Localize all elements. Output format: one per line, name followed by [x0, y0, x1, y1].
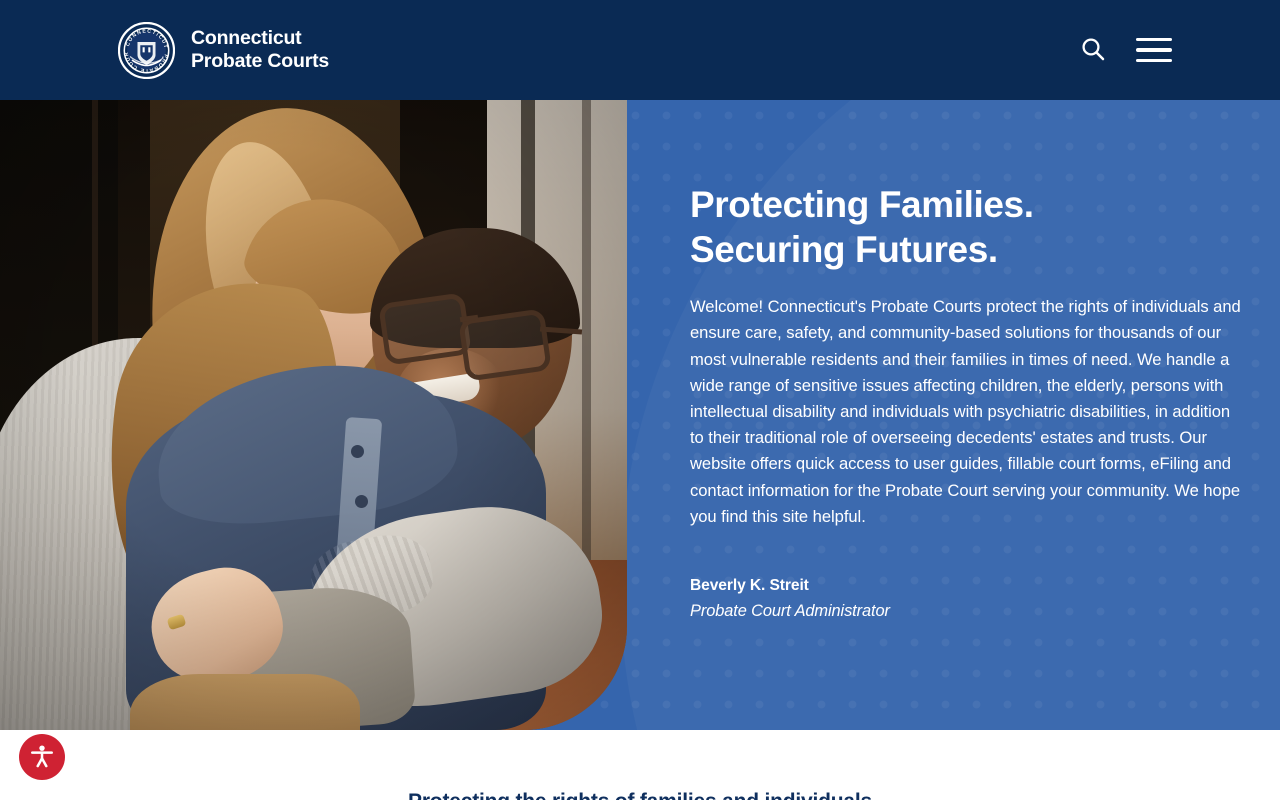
accessibility-person-icon — [28, 742, 56, 773]
signature-name: Beverly K. Streit — [690, 574, 1246, 599]
accessibility-button[interactable] — [19, 734, 65, 780]
signature-role: Probate Court Administrator — [690, 599, 1246, 625]
hamburger-menu-icon — [1136, 38, 1172, 62]
hero-copy: Protecting Families. Securing Futures. W… — [690, 100, 1246, 730]
brand-name: Connecticut Probate Courts — [191, 27, 329, 73]
hero-photo — [0, 100, 627, 730]
header-actions — [1076, 0, 1176, 100]
below-fold-section: Protecting the rights of families and in… — [0, 730, 1280, 800]
probate-courts-seal-icon: CONNECTICUT PROBATE COURTS — [118, 22, 175, 79]
menu-button[interactable] — [1132, 34, 1176, 66]
hero-title: Protecting Families. Securing Futures. — [690, 182, 1246, 272]
section-title: Protecting the rights of families and in… — [408, 790, 872, 800]
brand-home-link[interactable]: CONNECTICUT PROBATE COURTS Connecticut P… — [118, 22, 329, 79]
hero-signature: Beverly K. Streit Probate Court Administ… — [690, 574, 1246, 625]
search-button[interactable] — [1076, 32, 1110, 69]
hero-section: Protecting Families. Securing Futures. W… — [0, 100, 1280, 730]
hero-body-text: Welcome! Connecticut's Probate Courts pr… — [690, 294, 1246, 530]
search-icon — [1080, 36, 1106, 65]
section-heading: Protecting the rights of families and in… — [0, 790, 1280, 800]
site-header: CONNECTICUT PROBATE COURTS Connecticut P… — [0, 0, 1280, 100]
